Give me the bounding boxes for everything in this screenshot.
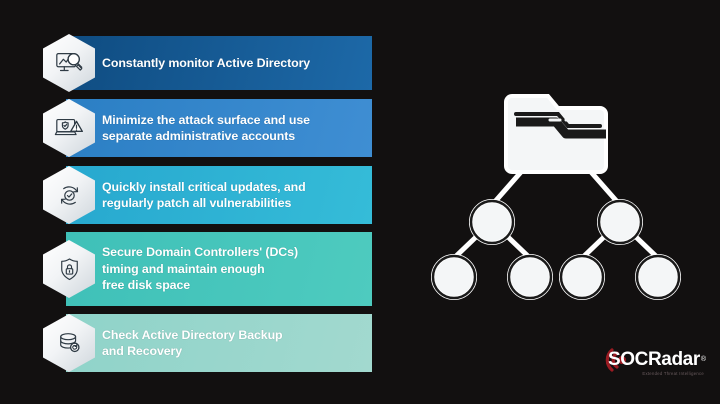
recommendation-steps-list: Constantly monitor Active Directory Mini… — [0, 0, 400, 404]
logo-wordmark-row: SOCRadar ® — [608, 350, 706, 369]
step-label-4: Secure Domain Controllers' (DCs) timing … — [102, 244, 298, 294]
logo-tagline: Extended Threat Intelligence — [642, 371, 704, 376]
infographic-canvas: Constantly monitor Active Directory Mini… — [0, 0, 720, 404]
step-item-5[interactable]: Check Active Directory Backup and Recove… — [66, 314, 372, 372]
logo-text: SOCRadar — [608, 350, 700, 369]
logo-registered-mark: ® — [701, 356, 706, 363]
monitor-search-icon — [43, 34, 95, 92]
tree-node-leaf — [433, 256, 679, 298]
laptop-shield-alert-icon — [43, 99, 95, 157]
step-label-2: Minimize the attack surface and use sepa… — [102, 112, 310, 145]
step-label-1: Constantly monitor Active Directory — [102, 55, 310, 72]
step-item-4[interactable]: Secure Domain Controllers' (DCs) timing … — [66, 232, 372, 306]
update-cycle-check-icon — [43, 166, 95, 224]
database-restore-icon — [43, 314, 95, 372]
step-item-2[interactable]: Minimize the attack surface and use sepa… — [66, 99, 372, 157]
folder-hierarchy-diagram — [424, 72, 686, 312]
step-item-3[interactable]: Quickly install critical updates, and re… — [66, 166, 372, 224]
step-label-5: Check Active Directory Backup and Recove… — [102, 327, 283, 360]
shield-lock-icon — [43, 240, 95, 298]
folder-icon — [506, 96, 606, 172]
socradar-logo[interactable]: SOCRadar ® Extended Threat Intelligence — [608, 350, 706, 376]
tree-node-mid — [471, 201, 641, 243]
step-item-1[interactable]: Constantly monitor Active Directory — [66, 36, 372, 90]
step-label-3: Quickly install critical updates, and re… — [102, 179, 306, 212]
